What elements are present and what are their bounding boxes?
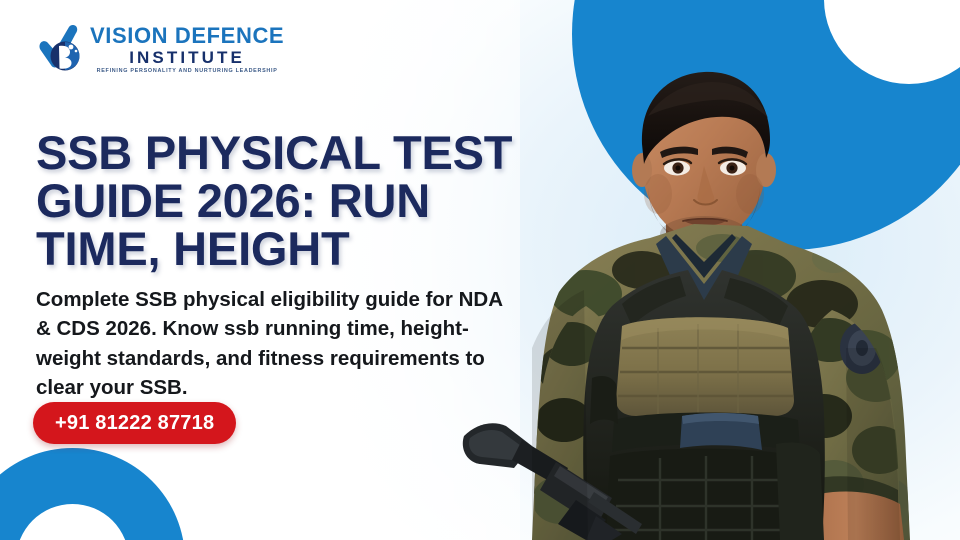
logo-tagline: REFINING PERSONALITY AND NURTURING LEADE…	[90, 69, 284, 74]
logo-line-2: INSTITUTE	[90, 49, 284, 66]
headline: SSB PHYSICAL TEST GUIDE 2026: RUN TIME, …	[36, 129, 556, 273]
logo-wordmark: VISION DEFENCE INSTITUTE REFINING PERSON…	[90, 25, 284, 74]
subcopy: Complete SSB physical eligibility guide …	[36, 285, 520, 403]
checkmark-shield-logo-icon	[38, 24, 84, 76]
brand-logo[interactable]: VISION DEFENCE INSTITUTE REFINING PERSON…	[38, 24, 284, 76]
ssb-physical-test-banner: VISION DEFENCE INSTITUTE REFINING PERSON…	[0, 0, 960, 540]
logo-line-1: VISION DEFENCE	[90, 25, 284, 47]
phone-cta-button[interactable]: +91 81222 87718	[33, 402, 236, 444]
